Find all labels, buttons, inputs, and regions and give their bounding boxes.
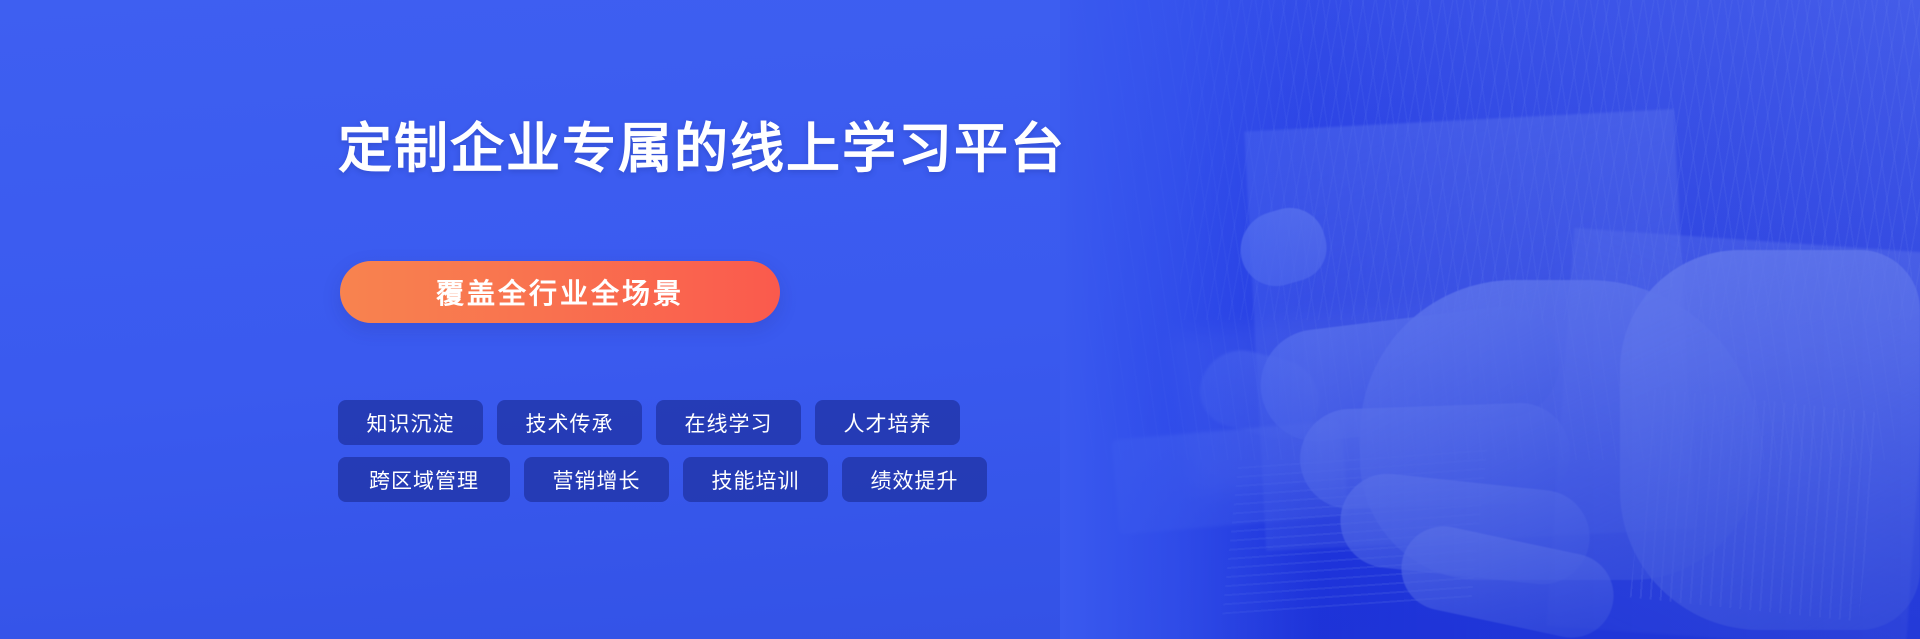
banner-content: 定制企业专属的线上学习平台 覆盖全行业全场景 知识沉淀 技术传承 在线学习 人才… [338, 0, 1238, 639]
tagline-pill-label: 覆盖全行业全场景 [436, 272, 684, 312]
tag-talent-development[interactable]: 人才培养 [815, 400, 960, 445]
tag-marketing-growth[interactable]: 营销增长 [524, 457, 669, 502]
tag-skills-training[interactable]: 技能培训 [683, 457, 828, 502]
tag-performance-improvement[interactable]: 绩效提升 [842, 457, 987, 502]
feature-tag-row-2: 跨区域管理 营销增长 技能培训 绩效提升 [338, 457, 987, 502]
tagline-pill[interactable]: 覆盖全行业全场景 [340, 261, 780, 323]
tag-online-learning[interactable]: 在线学习 [656, 400, 801, 445]
hero-banner: 定制企业专属的线上学习平台 覆盖全行业全场景 知识沉淀 技术传承 在线学习 人才… [0, 0, 1920, 639]
feature-tag-row-1: 知识沉淀 技术传承 在线学习 人才培养 [338, 400, 987, 445]
tag-knowledge-precipitation[interactable]: 知识沉淀 [338, 400, 483, 445]
page-title: 定制企业专属的线上学习平台 [338, 118, 1066, 180]
feature-tag-list: 知识沉淀 技术传承 在线学习 人才培养 跨区域管理 营销增长 技能培训 绩效提升 [338, 400, 987, 502]
tag-cross-region-management[interactable]: 跨区域管理 [338, 457, 510, 502]
tag-technology-inheritance[interactable]: 技术传承 [497, 400, 642, 445]
